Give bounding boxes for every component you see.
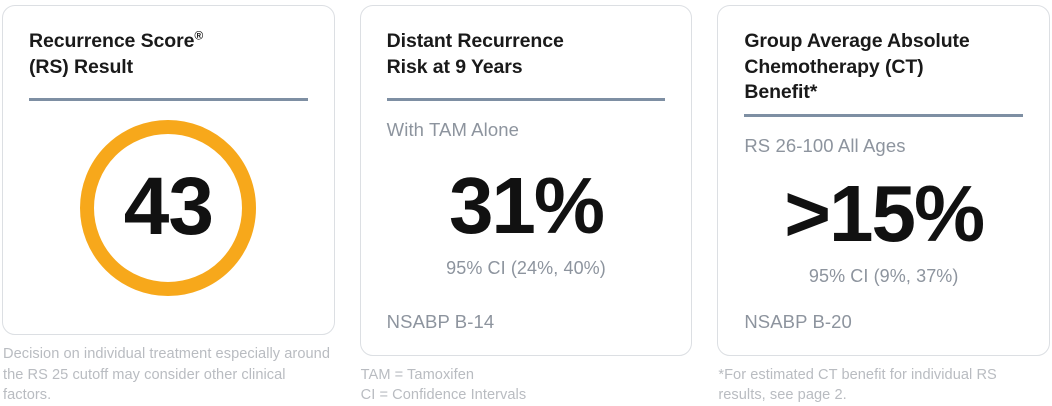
recurrence-score-gauge: 43: [29, 101, 308, 334]
trial-label-distant-recurrence-risk: NSABP B-14: [387, 311, 666, 355]
card-distant-recurrence-risk: Distant Recurrence Risk at 9 Years With …: [360, 5, 693, 356]
card-chemotherapy-benefit: Group Average Absolute Chemotherapy (CT)…: [717, 5, 1050, 356]
card-title-line2: (RS) Result: [29, 56, 133, 78]
stat-block-chemotherapy-benefit: >15% 95% CI (9%, 37%): [744, 151, 1023, 311]
card-column-recurrence-score: Recurrence Score®(RS) Result 43 Decision…: [2, 5, 335, 406]
card-divider: [744, 114, 1023, 117]
card-divider: [387, 98, 666, 101]
footnote-chemotherapy-benefit: *For estimated CT benefit for individual…: [717, 365, 1050, 406]
card-title-line1: Recurrence Score: [29, 30, 194, 52]
trial-label-chemotherapy-benefit: NSABP B-20: [744, 311, 1023, 355]
distant-recurrence-risk-confidence-interval: 95% CI (24%, 40%): [446, 258, 606, 279]
stat-block-distant-recurrence-risk: 31% 95% CI (24%, 40%): [387, 135, 666, 310]
recurrence-score-value: 43: [80, 120, 256, 296]
card-column-chemotherapy-benefit: Group Average Absolute Chemotherapy (CT)…: [717, 5, 1050, 406]
card-title-distant-recurrence-risk: Distant Recurrence Risk at 9 Years: [387, 29, 666, 80]
card-title-recurrence-score: Recurrence Score®(RS) Result: [29, 29, 308, 80]
card-recurrence-score: Recurrence Score®(RS) Result 43: [2, 5, 335, 335]
card-column-distant-recurrence-risk: Distant Recurrence Risk at 9 Years With …: [360, 5, 693, 406]
footnote-recurrence-score: Decision on individual treatment especia…: [2, 344, 335, 406]
chemotherapy-benefit-confidence-interval: 95% CI (9%, 37%): [809, 266, 959, 287]
ring-gauge: 43: [80, 120, 256, 296]
registered-trademark-icon: ®: [194, 29, 203, 43]
card-title-chemotherapy-benefit: Group Average Absolute Chemotherapy (CT)…: [744, 29, 1023, 106]
chemotherapy-benefit-value: >15%: [784, 174, 983, 254]
result-cards-board: Recurrence Score®(RS) Result 43 Decision…: [0, 0, 1052, 406]
distant-recurrence-risk-value: 31%: [449, 166, 603, 246]
footnote-distant-recurrence-risk: TAM = Tamoxifen CI = Confidence Interval…: [360, 365, 693, 406]
